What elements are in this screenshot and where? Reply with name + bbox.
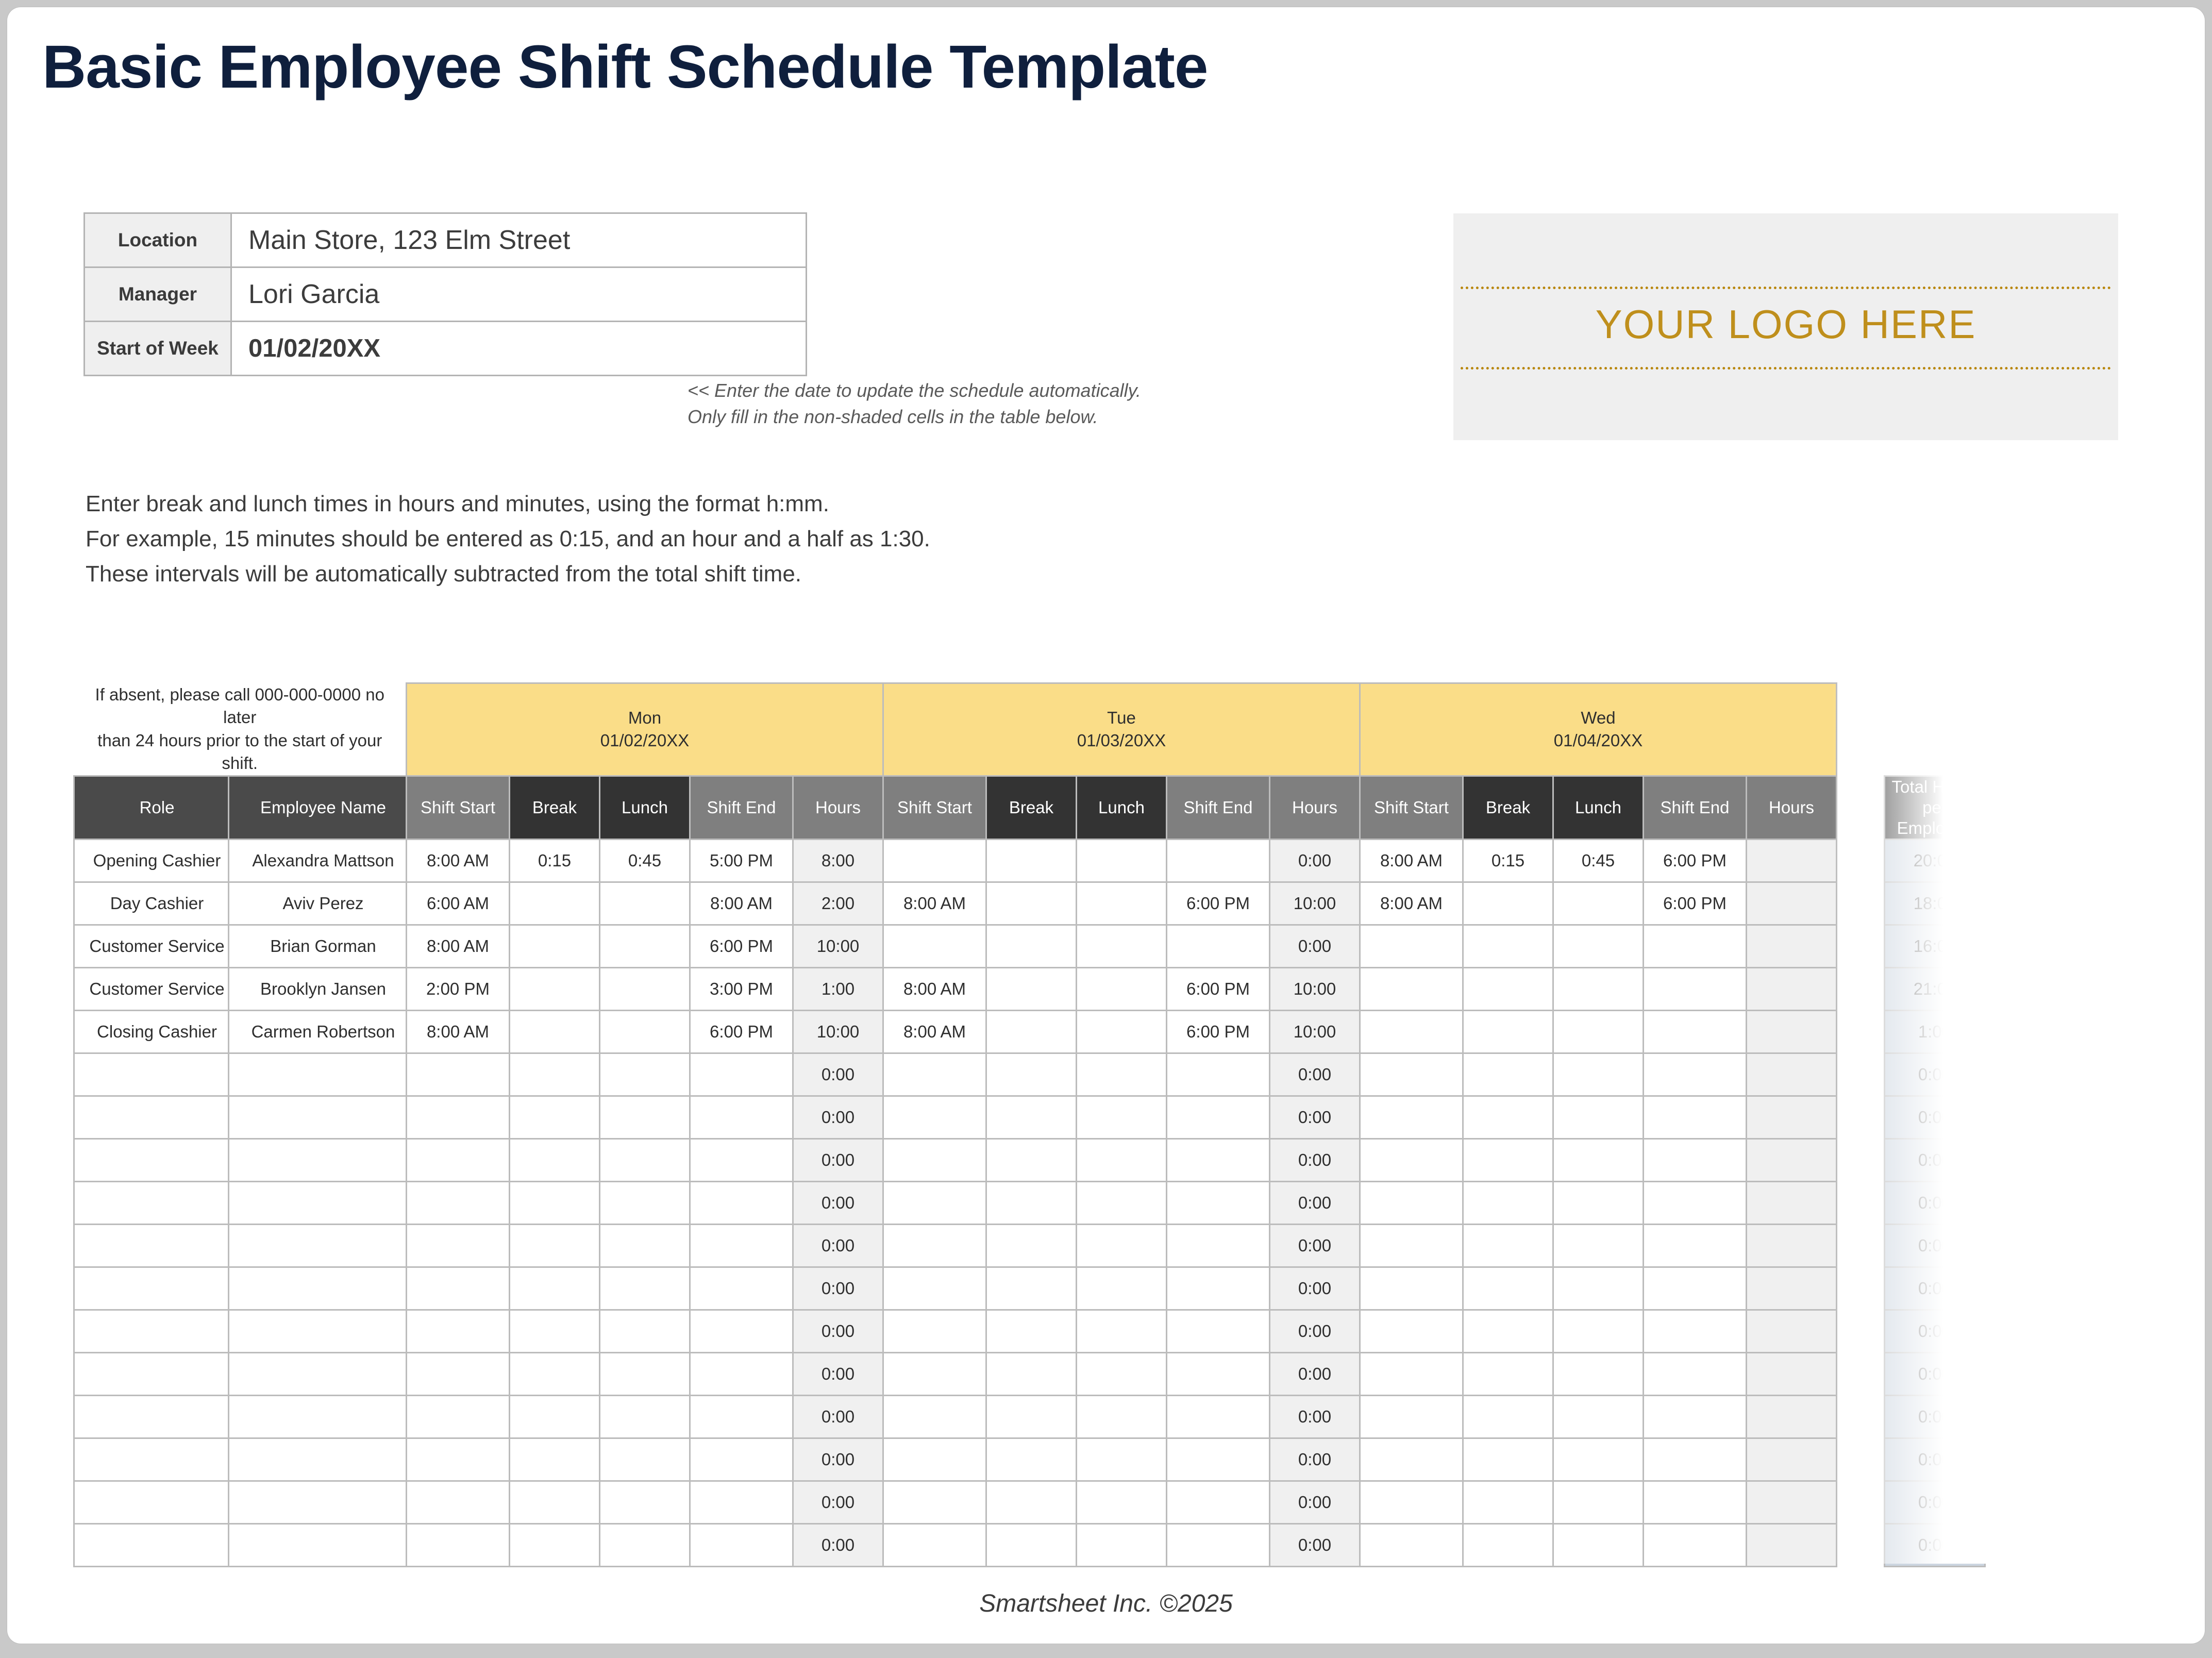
- cell-tue-break-2[interactable]: [986, 925, 1077, 968]
- cell-tue-lunch-13[interactable]: [1077, 1396, 1167, 1438]
- instructions-line1: Enter break and lunch times in hours and…: [86, 487, 930, 522]
- cell-role-8[interactable]: [74, 1182, 229, 1225]
- cell-employee-15[interactable]: [229, 1481, 407, 1524]
- cell-tue-shift-end-6[interactable]: [1167, 1096, 1270, 1139]
- logo-placeholder-text: YOUR LOGO HERE: [1453, 301, 2118, 348]
- cell-wed-shift-end-0[interactable]: 6:00 PM: [1644, 840, 1747, 882]
- cell-wed-shift-start-14[interactable]: [1360, 1438, 1463, 1481]
- cell-wed-hours-3: [1747, 968, 1837, 1011]
- cell-mon-break-10[interactable]: [510, 1267, 600, 1310]
- cell-tue-lunch-15[interactable]: [1077, 1481, 1167, 1524]
- cell-tue-shift-start-4[interactable]: 8:00 AM: [883, 1011, 986, 1053]
- cell-mon-lunch-16[interactable]: [600, 1524, 690, 1567]
- cell-wed-shift-start-11[interactable]: [1360, 1310, 1463, 1353]
- cell-wed-shift-end-6[interactable]: [1644, 1096, 1747, 1139]
- cell-wed-break-1[interactable]: [1463, 882, 1553, 925]
- cell-tue-shift-end-12[interactable]: [1167, 1353, 1270, 1396]
- cell-wed-lunch-6[interactable]: [1553, 1096, 1644, 1139]
- row-gap-spacer-12: [1837, 1353, 1885, 1396]
- cell-tue-lunch-8[interactable]: [1077, 1182, 1167, 1225]
- cell-mon-lunch-9[interactable]: [600, 1225, 690, 1267]
- cell-wed-break-2[interactable]: [1463, 925, 1553, 968]
- cell-mon-break-5[interactable]: [510, 1053, 600, 1096]
- cell-employee-2[interactable]: Brian Gorman: [229, 925, 407, 968]
- cell-wed-shift-end-10[interactable]: [1644, 1267, 1747, 1310]
- col-header-employee-name: Employee Name: [229, 776, 407, 840]
- cell-wed-lunch-5[interactable]: [1553, 1053, 1644, 1096]
- cell-total-hours-11: 0:00: [1885, 1310, 1985, 1353]
- cell-mon-shift-start-7[interactable]: [407, 1139, 510, 1182]
- cell-wed-lunch-14[interactable]: [1553, 1438, 1644, 1481]
- cell-wed-break-9[interactable]: [1463, 1225, 1553, 1267]
- cell-mon-break-3[interactable]: [510, 968, 600, 1011]
- cell-wed-shift-end-9[interactable]: [1644, 1225, 1747, 1267]
- cell-tue-break-5[interactable]: [986, 1053, 1077, 1096]
- cell-wed-break-6[interactable]: [1463, 1096, 1553, 1139]
- cell-tue-shift-end-14[interactable]: [1167, 1438, 1270, 1481]
- logo-placeholder[interactable]: YOUR LOGO HERE: [1453, 213, 2118, 440]
- cell-mon-shift-start-13[interactable]: [407, 1396, 510, 1438]
- cell-total-hours-16: 0:00: [1885, 1524, 1985, 1567]
- cell-role-9[interactable]: [74, 1225, 229, 1267]
- cell-tue-lunch-16[interactable]: [1077, 1524, 1167, 1567]
- cell-tue-break-1[interactable]: [986, 882, 1077, 925]
- cell-role-4[interactable]: Closing Cashier: [74, 1011, 229, 1053]
- cell-tue-break-11[interactable]: [986, 1310, 1077, 1353]
- cell-tue-shift-end-4[interactable]: 6:00 PM: [1167, 1011, 1270, 1053]
- cell-wed-break-5[interactable]: [1463, 1053, 1553, 1096]
- row-gap-spacer-1: [1837, 882, 1885, 925]
- cell-mon-shift-start-15[interactable]: [407, 1481, 510, 1524]
- cell-employee-16[interactable]: [229, 1524, 407, 1567]
- cell-tue-shift-end-0[interactable]: [1167, 840, 1270, 882]
- cell-mon-shift-end-7[interactable]: [690, 1139, 793, 1182]
- cell-role-1[interactable]: Day Cashier: [74, 882, 229, 925]
- cell-wed-hours-10: [1747, 1267, 1837, 1310]
- cell-mon-break-8[interactable]: [510, 1182, 600, 1225]
- cell-mon-shift-end-5[interactable]: [690, 1053, 793, 1096]
- cell-wed-shift-end-15[interactable]: [1644, 1481, 1747, 1524]
- cell-employee-0[interactable]: Alexandra Mattson: [229, 840, 407, 882]
- cell-tue-shift-start-6[interactable]: [883, 1096, 986, 1139]
- cell-tue-shift-start-5[interactable]: [883, 1053, 986, 1096]
- cell-wed-shift-start-2[interactable]: [1360, 925, 1463, 968]
- cell-employee-1[interactable]: Aviv Perez: [229, 882, 407, 925]
- cell-mon-break-16[interactable]: [510, 1524, 600, 1567]
- cell-wed-break-16[interactable]: [1463, 1524, 1553, 1567]
- cell-tue-break-15[interactable]: [986, 1481, 1077, 1524]
- cell-tue-break-7[interactable]: [986, 1139, 1077, 1182]
- cell-mon-break-4[interactable]: [510, 1011, 600, 1053]
- cell-mon-break-15[interactable]: [510, 1481, 600, 1524]
- cell-tue-lunch-14[interactable]: [1077, 1438, 1167, 1481]
- cell-wed-break-11[interactable]: [1463, 1310, 1553, 1353]
- cell-wed-shift-end-13[interactable]: [1644, 1396, 1747, 1438]
- cell-wed-shift-end-12[interactable]: [1644, 1353, 1747, 1396]
- cell-mon-shift-start-8[interactable]: [407, 1182, 510, 1225]
- cell-tue-hours-9: 0:00: [1270, 1225, 1360, 1267]
- col-header-tue-shift-end: Shift End: [1167, 776, 1270, 840]
- row-gap-spacer-11: [1837, 1310, 1885, 1353]
- cell-tue-shift-start-0[interactable]: [883, 840, 986, 882]
- cell-tue-break-12[interactable]: [986, 1353, 1077, 1396]
- cell-role-7[interactable]: [74, 1139, 229, 1182]
- cell-mon-hours-8: 0:00: [793, 1182, 883, 1225]
- cell-mon-shift-end-11[interactable]: [690, 1310, 793, 1353]
- cell-mon-shift-end-13[interactable]: [690, 1396, 793, 1438]
- cell-wed-hours-5: [1747, 1053, 1837, 1096]
- cell-wed-break-14[interactable]: [1463, 1438, 1553, 1481]
- cell-mon-lunch-14[interactable]: [600, 1438, 690, 1481]
- cell-tue-shift-end-16[interactable]: [1167, 1524, 1270, 1567]
- cell-wed-shift-end-11[interactable]: [1644, 1310, 1747, 1353]
- cell-role-5[interactable]: [74, 1053, 229, 1096]
- cell-wed-break-13[interactable]: [1463, 1396, 1553, 1438]
- cell-wed-shift-end-2[interactable]: [1644, 925, 1747, 968]
- cell-mon-shift-end-0[interactable]: 5:00 PM: [690, 840, 793, 882]
- table-row: Day CashierAviv Perez6:00 AM8:00 AM2:008…: [74, 882, 1985, 925]
- cell-wed-lunch-13[interactable]: [1553, 1396, 1644, 1438]
- cell-tue-break-9[interactable]: [986, 1225, 1077, 1267]
- cell-mon-shift-start-9[interactable]: [407, 1225, 510, 1267]
- cell-wed-lunch-2[interactable]: [1553, 925, 1644, 968]
- cell-wed-lunch-4[interactable]: [1553, 1011, 1644, 1053]
- info-value-start-of-week[interactable]: 01/02/20XX: [231, 322, 807, 376]
- cell-mon-lunch-3[interactable]: [600, 968, 690, 1011]
- cell-tue-shift-end-11[interactable]: [1167, 1310, 1270, 1353]
- cell-mon-hours-9: 0:00: [793, 1225, 883, 1267]
- cell-wed-shift-start-10[interactable]: [1360, 1267, 1463, 1310]
- cell-wed-shift-start-15[interactable]: [1360, 1481, 1463, 1524]
- cell-mon-shift-end-4[interactable]: 6:00 PM: [690, 1011, 793, 1053]
- cell-tue-shift-start-16[interactable]: [883, 1524, 986, 1567]
- cell-tue-lunch-2[interactable]: [1077, 925, 1167, 968]
- cell-tue-hours-6: 0:00: [1270, 1096, 1360, 1139]
- cell-wed-break-4[interactable]: [1463, 1011, 1553, 1053]
- cell-wed-shift-end-16[interactable]: [1644, 1524, 1747, 1567]
- cell-tue-lunch-10[interactable]: [1077, 1267, 1167, 1310]
- cell-tue-shift-start-15[interactable]: [883, 1481, 986, 1524]
- cell-wed-shift-start-8[interactable]: [1360, 1182, 1463, 1225]
- cell-wed-break-3[interactable]: [1463, 968, 1553, 1011]
- total-header-line2: per: [1885, 797, 1984, 818]
- cell-tue-hours-0: 0:00: [1270, 840, 1360, 882]
- cell-tue-shift-end-9[interactable]: [1167, 1225, 1270, 1267]
- cell-tue-shift-start-7[interactable]: [883, 1139, 986, 1182]
- cell-role-10[interactable]: [74, 1267, 229, 1310]
- cell-tue-shift-start-3[interactable]: 8:00 AM: [883, 968, 986, 1011]
- cell-wed-shift-end-4[interactable]: [1644, 1011, 1747, 1053]
- cell-wed-hours-0: [1747, 840, 1837, 882]
- cell-mon-shift-start-5[interactable]: [407, 1053, 510, 1096]
- cell-wed-hours-1: [1747, 882, 1837, 925]
- cell-wed-lunch-10[interactable]: [1553, 1267, 1644, 1310]
- info-value-manager[interactable]: Lori Garcia: [231, 267, 807, 322]
- cell-mon-shift-start-4[interactable]: 8:00 AM: [407, 1011, 510, 1053]
- absent-notice-line2: than 24 hours prior to the start of your…: [97, 731, 382, 773]
- cell-employee-12[interactable]: [229, 1353, 407, 1396]
- cell-mon-shift-end-1[interactable]: 8:00 AM: [690, 882, 793, 925]
- cell-mon-hours-2: 10:00: [793, 925, 883, 968]
- cell-mon-shift-end-9[interactable]: [690, 1225, 793, 1267]
- cell-mon-shift-start-0[interactable]: 8:00 AM: [407, 840, 510, 882]
- info-label-manager: Manager: [85, 267, 231, 322]
- col-header-wed-break: Break: [1463, 776, 1553, 840]
- cell-employee-7[interactable]: [229, 1139, 407, 1182]
- cell-mon-break-1[interactable]: [510, 882, 600, 925]
- cell-wed-shift-end-8[interactable]: [1644, 1182, 1747, 1225]
- cell-tue-break-16[interactable]: [986, 1524, 1077, 1567]
- cell-tue-shift-start-1[interactable]: 8:00 AM: [883, 882, 986, 925]
- cell-wed-shift-end-5[interactable]: [1644, 1053, 1747, 1096]
- cell-wed-shift-end-14[interactable]: [1644, 1438, 1747, 1481]
- col-header-mon-shift-start: Shift Start: [407, 776, 510, 840]
- cell-tue-shift-start-9[interactable]: [883, 1225, 986, 1267]
- cell-wed-shift-start-5[interactable]: [1360, 1053, 1463, 1096]
- cell-tue-break-14[interactable]: [986, 1438, 1077, 1481]
- cell-tue-break-0[interactable]: [986, 840, 1077, 882]
- day-header-row: If absent, please call 000-000-0000 no l…: [74, 683, 1985, 776]
- cell-employee-6[interactable]: [229, 1096, 407, 1139]
- cell-role-15[interactable]: [74, 1481, 229, 1524]
- cell-wed-hours-11: [1747, 1310, 1837, 1353]
- cell-mon-shift-start-6[interactable]: [407, 1096, 510, 1139]
- cell-tue-hours-5: 0:00: [1270, 1053, 1360, 1096]
- cell-employee-8[interactable]: [229, 1182, 407, 1225]
- cell-mon-shift-start-12[interactable]: [407, 1353, 510, 1396]
- cell-mon-lunch-8[interactable]: [600, 1182, 690, 1225]
- cell-tue-shift-end-3[interactable]: 6:00 PM: [1167, 968, 1270, 1011]
- cell-tue-lunch-1[interactable]: [1077, 882, 1167, 925]
- cell-wed-lunch-11[interactable]: [1553, 1310, 1644, 1353]
- cell-wed-break-15[interactable]: [1463, 1481, 1553, 1524]
- cell-wed-shift-start-9[interactable]: [1360, 1225, 1463, 1267]
- cell-mon-shift-end-3[interactable]: 3:00 PM: [690, 968, 793, 1011]
- cell-mon-lunch-0[interactable]: 0:45: [600, 840, 690, 882]
- cell-tue-shift-end-7[interactable]: [1167, 1139, 1270, 1182]
- cell-tue-lunch-11[interactable]: [1077, 1310, 1167, 1353]
- cell-mon-hours-7: 0:00: [793, 1139, 883, 1182]
- cell-tue-lunch-7[interactable]: [1077, 1139, 1167, 1182]
- cell-tue-shift-start-11[interactable]: [883, 1310, 986, 1353]
- cell-mon-lunch-11[interactable]: [600, 1310, 690, 1353]
- cell-tue-shift-start-12[interactable]: [883, 1353, 986, 1396]
- cell-mon-shift-start-14[interactable]: [407, 1438, 510, 1481]
- cell-wed-lunch-12[interactable]: [1553, 1353, 1644, 1396]
- cell-wed-shift-start-4[interactable]: [1360, 1011, 1463, 1053]
- cell-tue-break-3[interactable]: [986, 968, 1077, 1011]
- cell-employee-4[interactable]: Carmen Robertson: [229, 1011, 407, 1053]
- cell-employee-13[interactable]: [229, 1396, 407, 1438]
- cell-role-3[interactable]: Customer Service: [74, 968, 229, 1011]
- cell-mon-shift-start-1[interactable]: 6:00 AM: [407, 882, 510, 925]
- row-gap-spacer-0: [1837, 840, 1885, 882]
- cell-tue-shift-start-8[interactable]: [883, 1182, 986, 1225]
- cell-role-11[interactable]: [74, 1310, 229, 1353]
- cell-mon-lunch-12[interactable]: [600, 1353, 690, 1396]
- cell-mon-lunch-10[interactable]: [600, 1267, 690, 1310]
- cell-employee-11[interactable]: [229, 1310, 407, 1353]
- cell-mon-lunch-2[interactable]: [600, 925, 690, 968]
- cell-mon-shift-end-8[interactable]: [690, 1182, 793, 1225]
- cell-mon-shift-end-14[interactable]: [690, 1438, 793, 1481]
- cell-wed-lunch-1[interactable]: [1553, 882, 1644, 925]
- cell-mon-lunch-5[interactable]: [600, 1053, 690, 1096]
- col-header-wed-shift-end: Shift End: [1644, 776, 1747, 840]
- cell-wed-shift-start-16[interactable]: [1360, 1524, 1463, 1567]
- col-header-mon-hours: Hours: [793, 776, 883, 840]
- cell-role-16[interactable]: [74, 1524, 229, 1567]
- cell-tue-shift-start-10[interactable]: [883, 1267, 986, 1310]
- cell-tue-break-8[interactable]: [986, 1182, 1077, 1225]
- cell-mon-shift-start-3[interactable]: 2:00 PM: [407, 968, 510, 1011]
- table-row: Customer ServiceBrooklyn Jansen2:00 PM3:…: [74, 968, 1985, 1011]
- cell-wed-lunch-15[interactable]: [1553, 1481, 1644, 1524]
- col-header-tue-lunch: Lunch: [1077, 776, 1167, 840]
- cell-mon-break-0[interactable]: 0:15: [510, 840, 600, 882]
- cell-total-hours-12: 0:00: [1885, 1353, 1985, 1396]
- table-row: 0:000:000:00: [74, 1353, 1985, 1396]
- cell-mon-shift-start-2[interactable]: 8:00 AM: [407, 925, 510, 968]
- cell-mon-lunch-15[interactable]: [600, 1481, 690, 1524]
- cell-tue-break-13[interactable]: [986, 1396, 1077, 1438]
- cell-tue-lunch-5[interactable]: [1077, 1053, 1167, 1096]
- day-name-wed: Wed: [1361, 707, 1836, 730]
- cell-tue-break-10[interactable]: [986, 1267, 1077, 1310]
- cell-tue-lunch-12[interactable]: [1077, 1353, 1167, 1396]
- cell-tue-shift-start-13[interactable]: [883, 1396, 986, 1438]
- cell-tue-shift-end-1[interactable]: 6:00 PM: [1167, 882, 1270, 925]
- cell-wed-break-8[interactable]: [1463, 1182, 1553, 1225]
- cell-role-14[interactable]: [74, 1438, 229, 1481]
- cell-wed-hours-16: [1747, 1524, 1837, 1567]
- cell-mon-break-13[interactable]: [510, 1396, 600, 1438]
- day-header-tue: Tue 01/03/20XX: [883, 683, 1360, 776]
- cell-tue-shift-start-2[interactable]: [883, 925, 986, 968]
- cell-role-13[interactable]: [74, 1396, 229, 1438]
- cell-mon-shift-end-6[interactable]: [690, 1096, 793, 1139]
- cell-tue-hours-15: 0:00: [1270, 1481, 1360, 1524]
- cell-wed-shift-end-3[interactable]: [1644, 968, 1747, 1011]
- cell-employee-3[interactable]: Brooklyn Jansen: [229, 968, 407, 1011]
- cell-mon-shift-end-10[interactable]: [690, 1267, 793, 1310]
- cell-wed-lunch-16[interactable]: [1553, 1524, 1644, 1567]
- cell-mon-break-7[interactable]: [510, 1139, 600, 1182]
- cell-tue-lunch-4[interactable]: [1077, 1011, 1167, 1053]
- cell-role-12[interactable]: [74, 1353, 229, 1396]
- cell-tue-shift-end-10[interactable]: [1167, 1267, 1270, 1310]
- info-label-start-of-week: Start of Week: [85, 322, 231, 376]
- cell-employee-10[interactable]: [229, 1267, 407, 1310]
- cell-employee-14[interactable]: [229, 1438, 407, 1481]
- cell-tue-break-4[interactable]: [986, 1011, 1077, 1053]
- cell-mon-shift-end-15[interactable]: [690, 1481, 793, 1524]
- table-gap-spacer-2: [1837, 776, 1885, 840]
- cell-tue-lunch-0[interactable]: [1077, 840, 1167, 882]
- cell-tue-break-6[interactable]: [986, 1096, 1077, 1139]
- cell-wed-shift-start-3[interactable]: [1360, 968, 1463, 1011]
- cell-mon-lunch-1[interactable]: [600, 882, 690, 925]
- cell-wed-lunch-3[interactable]: [1553, 968, 1644, 1011]
- cell-wed-lunch-7[interactable]: [1553, 1139, 1644, 1182]
- cell-wed-break-10[interactable]: [1463, 1267, 1553, 1310]
- cell-tue-shift-start-14[interactable]: [883, 1438, 986, 1481]
- cell-tue-shift-end-5[interactable]: [1167, 1053, 1270, 1096]
- cell-wed-lunch-9[interactable]: [1553, 1225, 1644, 1267]
- cell-wed-shift-start-6[interactable]: [1360, 1096, 1463, 1139]
- day-date-tue: 01/03/20XX: [884, 729, 1359, 752]
- cell-wed-break-0[interactable]: 0:15: [1463, 840, 1553, 882]
- cell-wed-shift-start-12[interactable]: [1360, 1353, 1463, 1396]
- cell-mon-break-12[interactable]: [510, 1353, 600, 1396]
- cell-total-hours-1: 18:00: [1885, 882, 1985, 925]
- cell-mon-break-6[interactable]: [510, 1096, 600, 1139]
- cell-tue-shift-end-8[interactable]: [1167, 1182, 1270, 1225]
- cell-mon-shift-start-10[interactable]: [407, 1267, 510, 1310]
- cell-wed-shift-end-1[interactable]: 6:00 PM: [1644, 882, 1747, 925]
- cell-wed-lunch-8[interactable]: [1553, 1182, 1644, 1225]
- cell-mon-break-9[interactable]: [510, 1225, 600, 1267]
- cell-role-2[interactable]: Customer Service: [74, 925, 229, 968]
- cell-tue-lunch-3[interactable]: [1077, 968, 1167, 1011]
- cell-mon-hours-1: 2:00: [793, 882, 883, 925]
- cell-mon-break-2[interactable]: [510, 925, 600, 968]
- col-header-role: Role: [74, 776, 229, 840]
- info-value-location[interactable]: Main Store, 123 Elm Street: [231, 213, 807, 267]
- page-title: Basic Employee Shift Schedule Template: [42, 32, 1208, 102]
- cell-tue-shift-end-15[interactable]: [1167, 1481, 1270, 1524]
- cell-tue-shift-end-13[interactable]: [1167, 1396, 1270, 1438]
- cell-mon-shift-start-16[interactable]: [407, 1524, 510, 1567]
- absent-notice: If absent, please call 000-000-0000 no l…: [74, 683, 407, 776]
- cell-tue-hours-12: 0:00: [1270, 1353, 1360, 1396]
- cell-employee-5[interactable]: [229, 1053, 407, 1096]
- cell-tue-shift-end-2[interactable]: [1167, 925, 1270, 968]
- info-row-manager: Manager Lori Garcia: [85, 267, 807, 322]
- cell-mon-lunch-6[interactable]: [600, 1096, 690, 1139]
- cell-mon-lunch-7[interactable]: [600, 1139, 690, 1182]
- cell-tue-lunch-6[interactable]: [1077, 1096, 1167, 1139]
- cell-role-6[interactable]: [74, 1096, 229, 1139]
- cell-mon-break-11[interactable]: [510, 1310, 600, 1353]
- cell-total-hours-10: 0:00: [1885, 1267, 1985, 1310]
- cell-total-hours-4: 1:00: [1885, 1011, 1985, 1053]
- cell-mon-shift-start-11[interactable]: [407, 1310, 510, 1353]
- cell-mon-break-14[interactable]: [510, 1438, 600, 1481]
- cell-role-0[interactable]: Opening Cashier: [74, 840, 229, 882]
- cell-wed-shift-start-1[interactable]: 8:00 AM: [1360, 882, 1463, 925]
- cell-mon-shift-end-16[interactable]: [690, 1524, 793, 1567]
- cell-tue-lunch-9[interactable]: [1077, 1225, 1167, 1267]
- cell-mon-lunch-13[interactable]: [600, 1396, 690, 1438]
- cell-wed-break-12[interactable]: [1463, 1353, 1553, 1396]
- cell-mon-shift-end-12[interactable]: [690, 1353, 793, 1396]
- cell-wed-shift-start-13[interactable]: [1360, 1396, 1463, 1438]
- cell-wed-shift-end-7[interactable]: [1644, 1139, 1747, 1182]
- cell-wed-shift-start-0[interactable]: 8:00 AM: [1360, 840, 1463, 882]
- cell-mon-hours-0: 8:00: [793, 840, 883, 882]
- cell-mon-shift-end-2[interactable]: 6:00 PM: [690, 925, 793, 968]
- day-header-mon: Mon 01/02/20XX: [407, 683, 883, 776]
- cell-wed-break-7[interactable]: [1463, 1139, 1553, 1182]
- row-gap-spacer-8: [1837, 1182, 1885, 1225]
- cell-employee-9[interactable]: [229, 1225, 407, 1267]
- cell-wed-shift-start-7[interactable]: [1360, 1139, 1463, 1182]
- cell-wed-hours-13: [1747, 1396, 1837, 1438]
- cell-mon-lunch-4[interactable]: [600, 1011, 690, 1053]
- cell-wed-lunch-0[interactable]: 0:45: [1553, 840, 1644, 882]
- table-gap-spacer: [1837, 683, 1885, 776]
